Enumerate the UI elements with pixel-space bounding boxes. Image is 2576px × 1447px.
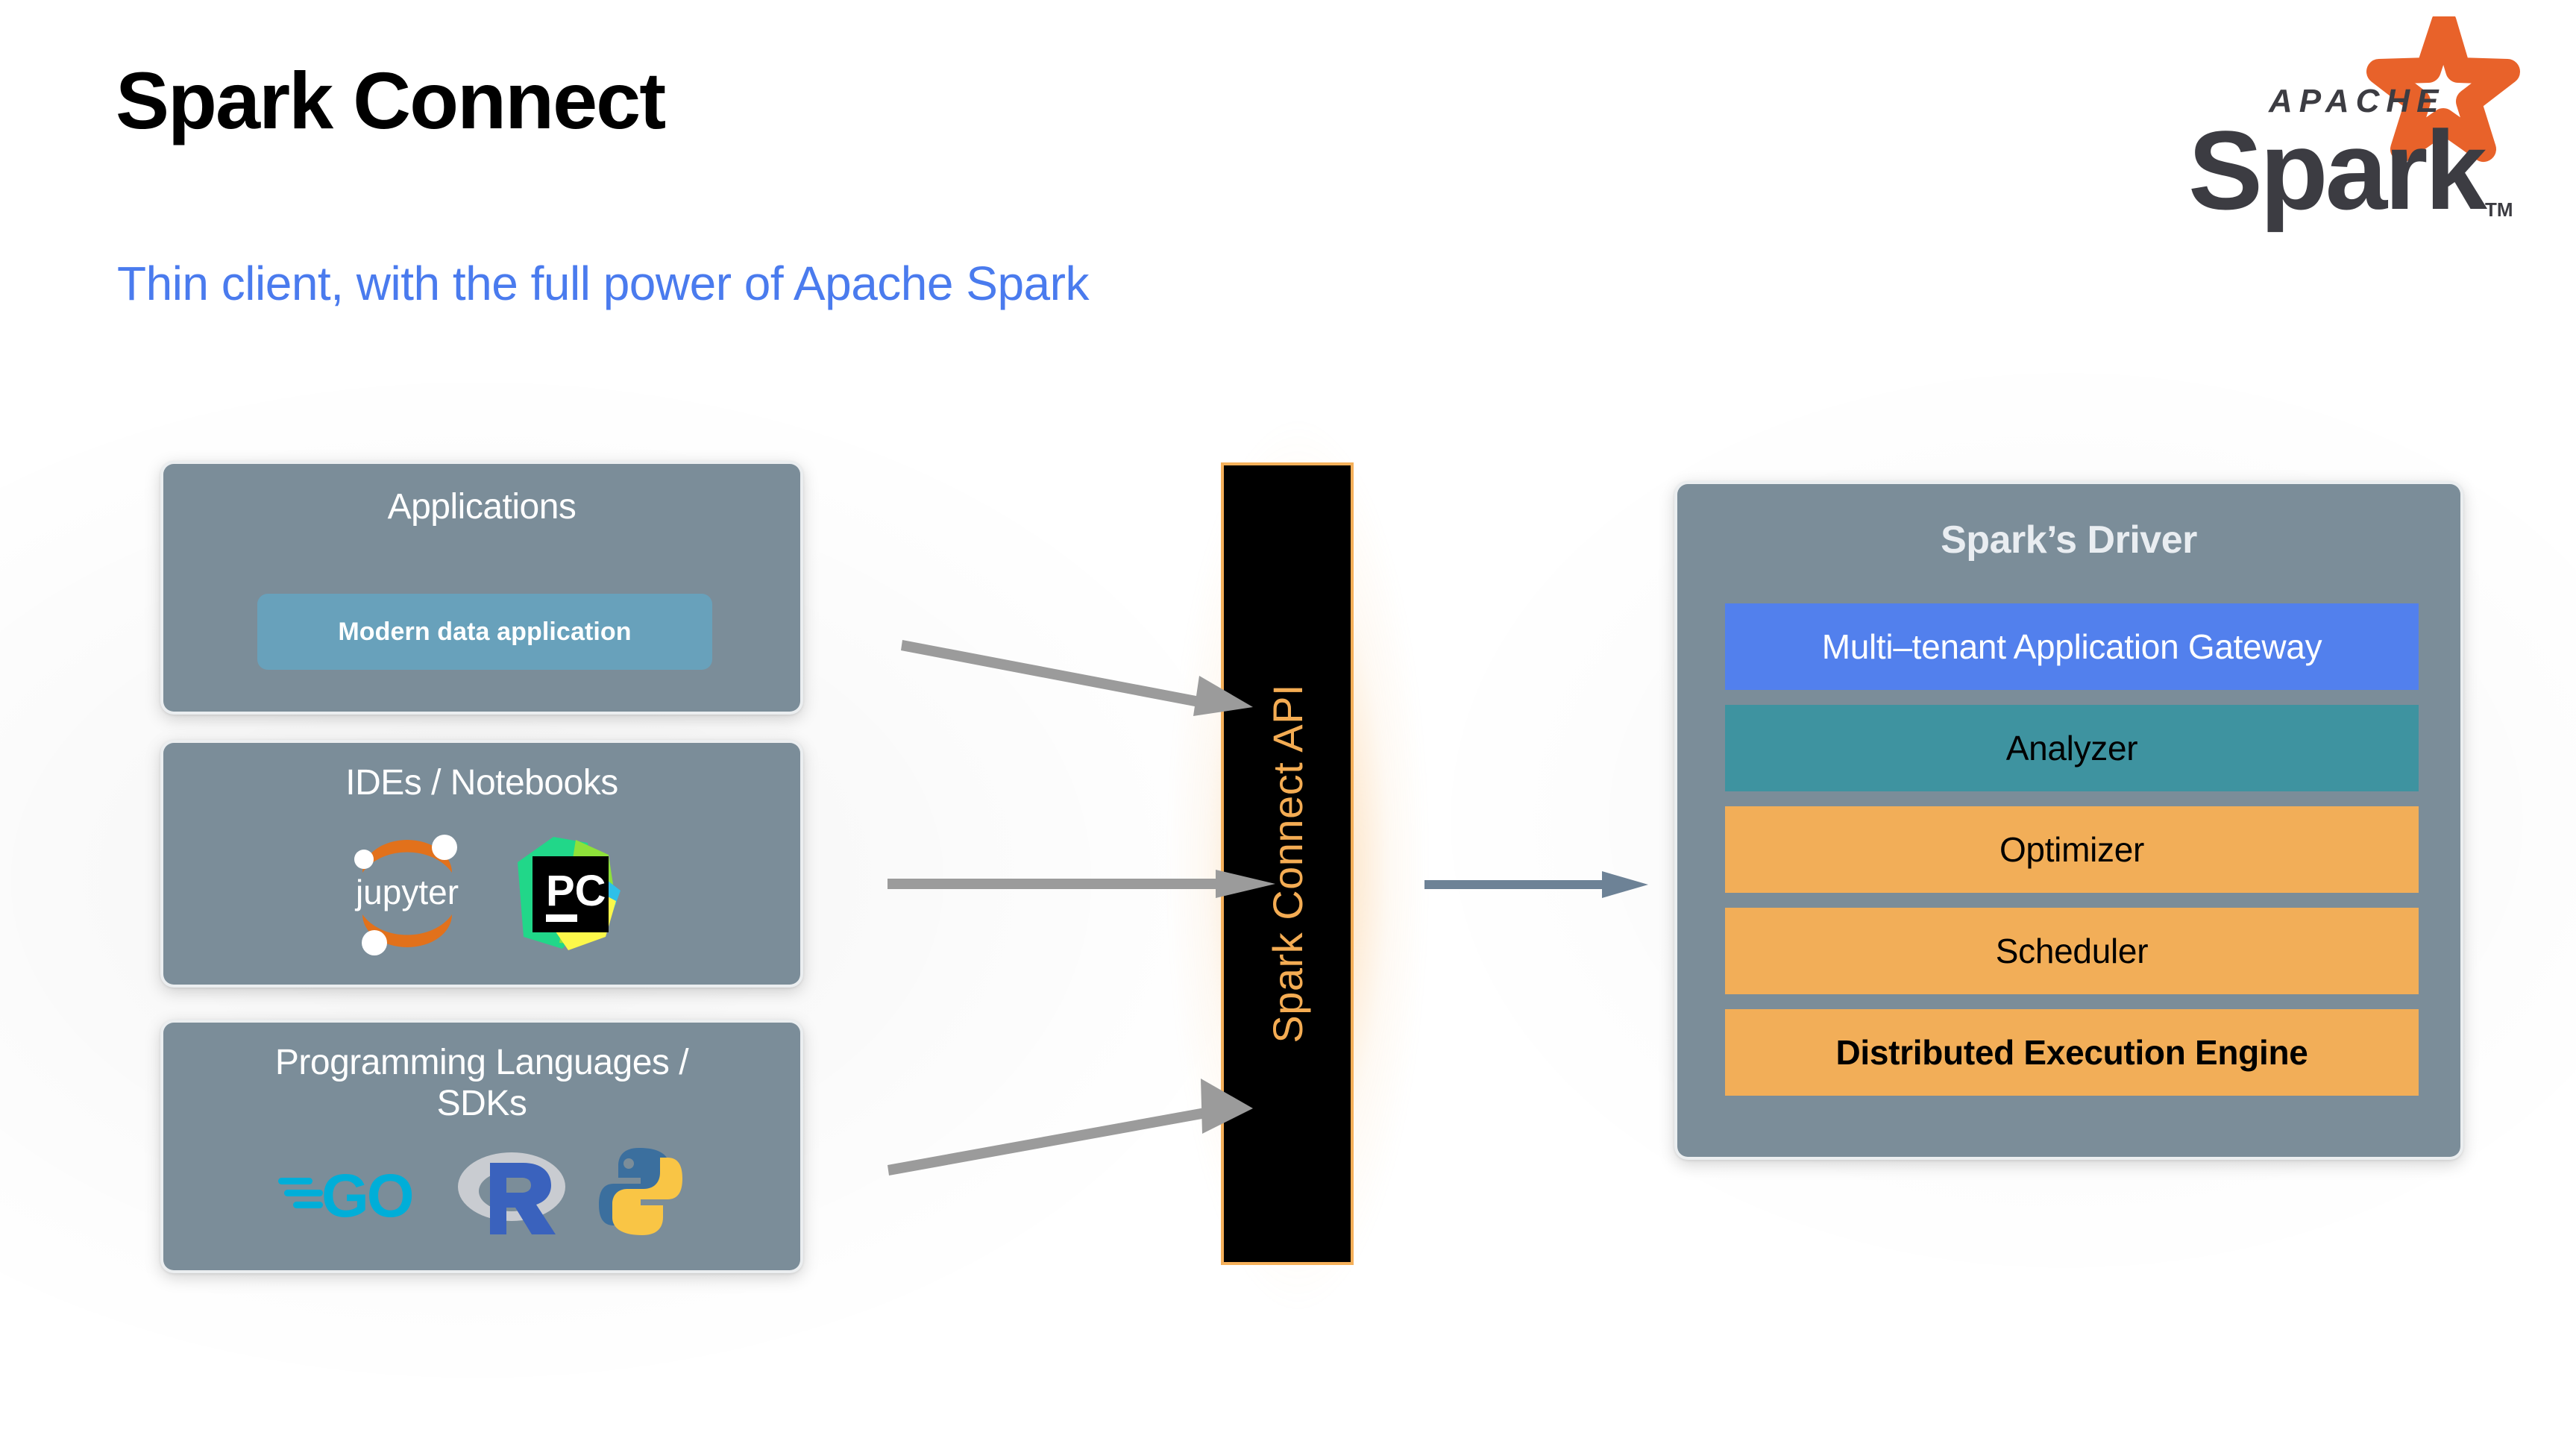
card-ides-title: IDEs / Notebooks xyxy=(163,762,800,803)
pycharm-logo: PC xyxy=(504,832,623,959)
r-language-logo xyxy=(456,1145,568,1242)
slide-canvas: Spark Connect Thin client, with the full… xyxy=(0,0,2576,1447)
card-applications-title: Applications xyxy=(163,486,800,527)
arrow-languages-to-api xyxy=(880,1059,1268,1178)
golang-logo: GO xyxy=(278,1151,427,1237)
card-driver-title: Spark’s Driver xyxy=(1677,518,2460,563)
apache-spark-logo: APACHE Spark TM xyxy=(2158,16,2531,233)
arrow-applications-to-api xyxy=(888,619,1275,731)
card-applications[interactable]: Applications Modern data application xyxy=(160,461,803,715)
card-ides-notebooks[interactable]: IDEs / Notebooks jupyter xyxy=(160,740,803,988)
modern-data-application-item[interactable]: Modern data application xyxy=(257,594,712,670)
ide-logo-row: jupyter PC xyxy=(163,826,800,964)
driver-row-list: Multi–tenant Application Gateway Analyze… xyxy=(1725,603,2419,1096)
card-languages-title-line2: SDKs xyxy=(437,1084,527,1123)
language-logo-row: GO xyxy=(163,1145,800,1242)
driver-row[interactable]: Optimizer xyxy=(1725,806,2419,893)
svg-text:jupyter: jupyter xyxy=(354,873,459,911)
driver-row[interactable]: Analyzer xyxy=(1725,705,2419,791)
svg-text:PC: PC xyxy=(546,867,606,915)
logo-trademark: TM xyxy=(2485,198,2513,221)
driver-row[interactable]: Multi–tenant Application Gateway xyxy=(1725,603,2419,690)
card-languages-title-line1: Programming Languages / xyxy=(275,1043,688,1082)
card-languages-title: Programming Languages / SDKs xyxy=(163,1042,800,1124)
driver-row[interactable]: Distributed Execution Engine xyxy=(1725,1009,2419,1096)
page-subtitle: Thin client, with the full power of Apac… xyxy=(117,257,1089,310)
logo-spark-word: Spark xyxy=(2188,107,2487,233)
arrow-ides-to-api xyxy=(888,858,1275,917)
jupyter-logo: jupyter xyxy=(340,826,474,964)
card-programming-languages[interactable]: Programming Languages / SDKs GO xyxy=(160,1020,803,1273)
arrow-api-to-driver xyxy=(1424,858,1686,917)
driver-row[interactable]: Scheduler xyxy=(1725,908,2419,994)
page-title: Spark Connect xyxy=(116,58,665,142)
python-logo xyxy=(596,1145,685,1242)
svg-text:GO: GO xyxy=(321,1162,412,1230)
card-sparks-driver[interactable]: Spark’s Driver Multi–tenant Application … xyxy=(1674,481,2463,1160)
